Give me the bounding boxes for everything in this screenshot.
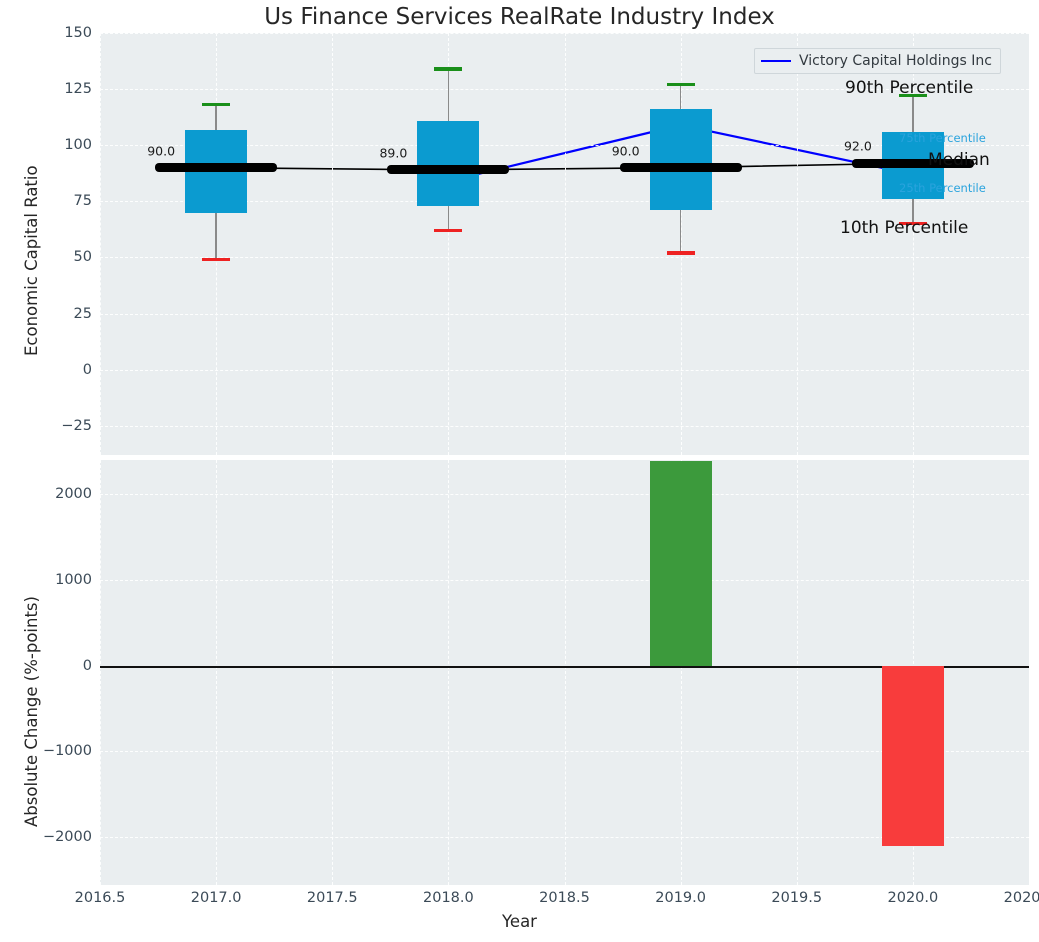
x-tick-label: 2020.0 (888, 890, 939, 906)
box-body (650, 109, 712, 210)
gridline-vertical (332, 33, 333, 455)
y-tick-label: 25 (0, 306, 92, 322)
chart-title: Us Finance Services RealRate Industry In… (0, 4, 1039, 30)
y-tick-label: −1000 (0, 743, 92, 759)
gridline-vertical (565, 33, 566, 455)
annotation-90th-percentile: 90th Percentile (845, 78, 973, 98)
y-tick-label: 100 (0, 137, 92, 153)
gridline-vertical (100, 33, 101, 455)
whisker-cap-low (667, 251, 695, 254)
y-tick-label: 1000 (0, 572, 92, 588)
whisker-cap-low (202, 258, 230, 261)
annotation-75th-percentile: 75th Percentile (899, 131, 986, 145)
x-tick-label: 2016.5 (75, 890, 126, 906)
median-bar (620, 163, 742, 172)
y-tick-label: −2000 (0, 829, 92, 845)
chart-root: Us Finance Services RealRate Industry In… (0, 0, 1039, 942)
y-tick-label: 0 (0, 362, 92, 378)
whisker-cap-high (667, 83, 695, 86)
legend-label-victory-capital: Victory Capital Holdings Inc (799, 53, 992, 69)
y-axis-label-top: Economic Capital Ratio (22, 165, 41, 356)
gridline-vertical (565, 460, 566, 885)
x-tick-label: 2018.0 (423, 890, 474, 906)
median-value-label: 90.0 (612, 143, 640, 158)
x-tick-label: 2017.5 (307, 890, 358, 906)
box-body (417, 121, 479, 206)
whisker-cap-high (434, 67, 462, 70)
legend-line-icon (761, 60, 791, 62)
gridline-vertical (797, 460, 798, 885)
gridline-vertical (216, 460, 217, 885)
gridline-vertical (100, 460, 101, 885)
gridline-vertical (332, 460, 333, 885)
bar-absolute-change (882, 666, 944, 847)
x-tick-label: 2019.5 (771, 890, 822, 906)
median-value-label: 90.0 (147, 143, 175, 158)
y-axis-label-bottom: Absolute Change (%-points) (22, 596, 41, 827)
y-tick-label: 125 (0, 81, 92, 97)
x-tick-label: 2020.5 (1004, 890, 1039, 906)
annotation-median: Median (928, 150, 990, 170)
y-tick-label: −25 (0, 418, 92, 434)
annotation-10th-percentile: 10th Percentile (840, 218, 968, 238)
bar-absolute-change (650, 461, 712, 666)
x-tick-label: 2017.0 (191, 890, 242, 906)
x-tick-label: 2018.5 (539, 890, 590, 906)
gridline-vertical (797, 33, 798, 455)
x-tick-label: 2019.0 (655, 890, 706, 906)
y-tick-label: 2000 (0, 486, 92, 502)
y-tick-label: 50 (0, 249, 92, 265)
y-tick-label: 75 (0, 193, 92, 209)
legend[interactable]: Victory Capital Holdings Inc (754, 48, 1001, 74)
annotation-25th-percentile: 25th Percentile (899, 181, 986, 195)
median-value-label: 89.0 (379, 145, 407, 160)
y-tick-label: 150 (0, 25, 92, 41)
whisker-cap-high (202, 103, 230, 106)
whisker-cap-low (434, 229, 462, 232)
panel-absolute-change (100, 460, 1029, 885)
y-tick-label: 0 (0, 658, 92, 674)
median-value-label: 92.0 (844, 139, 872, 154)
median-bar (387, 165, 509, 174)
gridline-vertical (448, 460, 449, 885)
median-bar (155, 163, 277, 172)
x-axis-label: Year (0, 912, 1039, 931)
